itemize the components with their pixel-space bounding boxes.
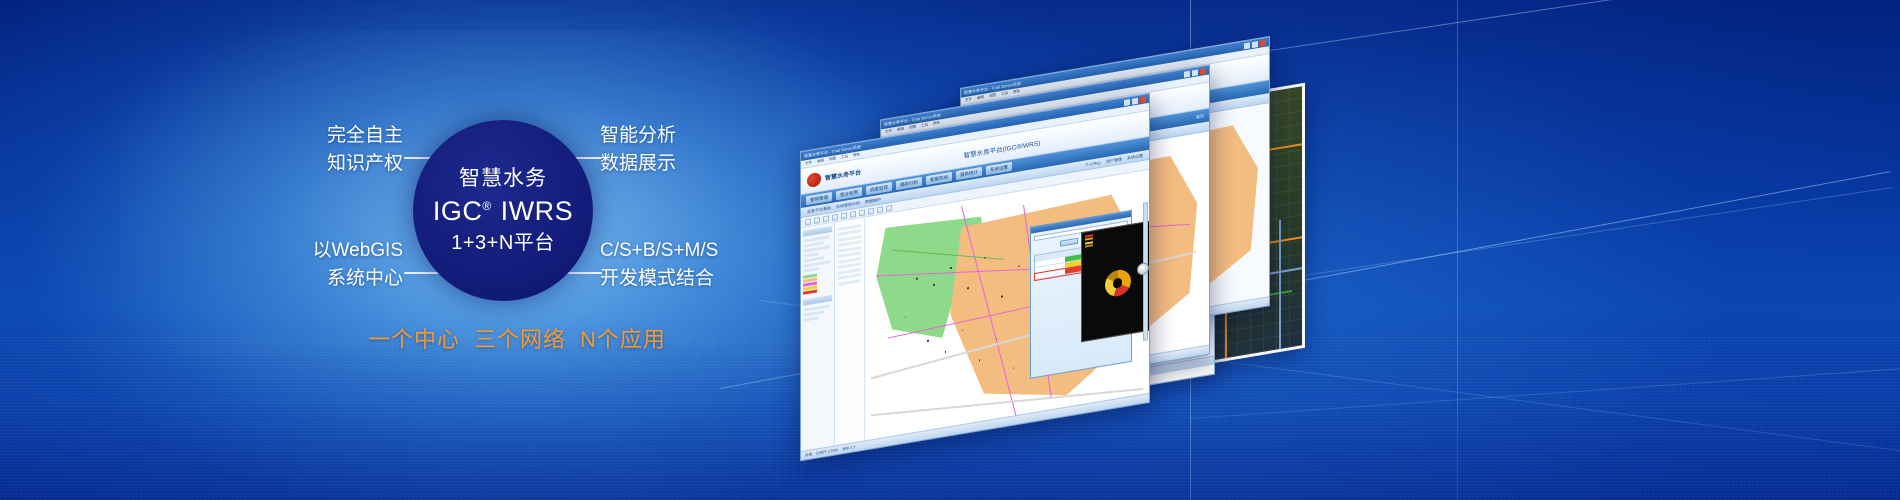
minimize-icon (1244, 42, 1250, 49)
feature-label-top-right: 智能分析 数据展示 (600, 122, 676, 177)
hub-en-iwrs: IWRS (501, 196, 574, 226)
feature-list-panel[interactable] (835, 217, 865, 452)
brand-hub: 智慧水务 IGC®IWRS 1+3+N平台 (413, 120, 593, 301)
minimize-icon (1184, 70, 1190, 77)
menu-item[interactable]: 文件 (805, 160, 812, 166)
identify-icon (877, 206, 883, 213)
status-scale: 比例尺 1:5000 (816, 447, 838, 456)
feature-label-bottom-left: 以WebGIS 系统中心 (296, 237, 403, 292)
label-line-2: 系统中心 (296, 265, 403, 293)
label-line-1: 智能分析 (600, 125, 676, 146)
zoom-out-icon (841, 212, 847, 219)
save-icon (814, 216, 820, 223)
open-icon (805, 218, 811, 225)
label-line-1: C/S+B/S+M/S (600, 240, 718, 261)
menu-item[interactable]: 工具 (921, 123, 928, 129)
status-coords: 坐标 X,Y (842, 444, 856, 451)
app-brand-name: 智慧水务平台 (825, 167, 861, 182)
menu-item[interactable]: 文件 (965, 97, 972, 103)
tagline: 一个中心三个网络N个应用 (368, 322, 666, 354)
tagline-part-3: N个应用 (580, 327, 666, 352)
maximize-icon (1132, 97, 1138, 104)
banner-root: 完全自主 知识产权 以WebGIS 系统中心 智能分析 数据展示 C/S+B/S… (0, 0, 1900, 500)
hub-subtitle: 1+3+N平台 (451, 232, 555, 254)
label-line-1: 以WebGIS (313, 240, 403, 261)
layers-icon (886, 204, 892, 211)
feature-label-top-left: 完全自主 知识产权 (303, 122, 403, 177)
menu-item[interactable]: 帮助 (853, 152, 860, 158)
menu-item[interactable]: 帮助 (933, 121, 940, 127)
map-legend (803, 271, 832, 295)
maximize-icon (1192, 69, 1198, 76)
measure-icon (868, 207, 874, 214)
label-line-2: 开发模式结合 (600, 265, 718, 293)
menu-item[interactable]: 编辑 (977, 95, 984, 101)
label-line-2: 知识产权 (303, 150, 403, 178)
tagline-part-2: 三个网络 (474, 327, 566, 352)
menu-item[interactable]: 视图 (829, 156, 836, 162)
hub-en-igc: IGC (433, 196, 483, 226)
close-icon (1140, 96, 1146, 103)
donut-legend (1085, 234, 1093, 248)
menu-item[interactable]: 工具 (841, 154, 848, 160)
nav-right-link[interactable]: 个人中心 (1085, 159, 1101, 168)
tagline-part-1: 一个中心 (368, 327, 460, 352)
feature-label-bottom-right: C/S+B/S+M/S 开发模式结合 (600, 237, 718, 292)
app-window-front[interactable]: 智慧水务平台 - Total Server系统 文件 编辑 视图 工具 帮助 智… (800, 93, 1150, 462)
minimize-icon (1124, 99, 1130, 106)
menu-item[interactable]: 视图 (909, 125, 916, 131)
menu-item[interactable]: 编辑 (817, 158, 824, 164)
query-button (1060, 238, 1078, 247)
donut-icon (1105, 268, 1131, 298)
nav-right-link[interactable]: 首页 (1196, 113, 1204, 120)
label-line-1: 完全自主 (327, 125, 403, 146)
nav-right-link[interactable]: 用户管理 (1106, 156, 1122, 165)
status-text: 就绪 (805, 452, 812, 458)
print-icon (823, 215, 829, 222)
select-icon (859, 209, 865, 216)
hub-product-name: IGC®IWRS (433, 197, 573, 225)
hub-chinese-title: 智慧水务 (459, 167, 547, 190)
screenshot-stack: 智慧水务平台(IGC®IWRS) 就绪 (770, 40, 1490, 440)
close-icon (1260, 39, 1266, 46)
pipeline-donut-chart (1081, 220, 1149, 343)
nav-right-link[interactable]: 系统设置 (1127, 152, 1143, 161)
menu-item[interactable]: 视图 (989, 93, 996, 99)
zoom-in-icon (832, 213, 838, 220)
menu-item[interactable]: 工具 (1001, 91, 1008, 97)
close-icon (1200, 68, 1206, 75)
menu-item[interactable]: 帮助 (1013, 89, 1020, 95)
company-logo-icon (807, 171, 821, 187)
registered-icon: ® (482, 199, 491, 213)
layer-tree-panel[interactable] (801, 222, 835, 458)
label-line-2: 数据展示 (600, 150, 676, 178)
maximize-icon (1252, 41, 1258, 48)
menu-item[interactable]: 编辑 (897, 127, 904, 133)
pan-icon (850, 210, 856, 217)
menu-item[interactable]: 文件 (885, 129, 892, 135)
sub-tab[interactable]: 数据维护 (865, 196, 881, 205)
